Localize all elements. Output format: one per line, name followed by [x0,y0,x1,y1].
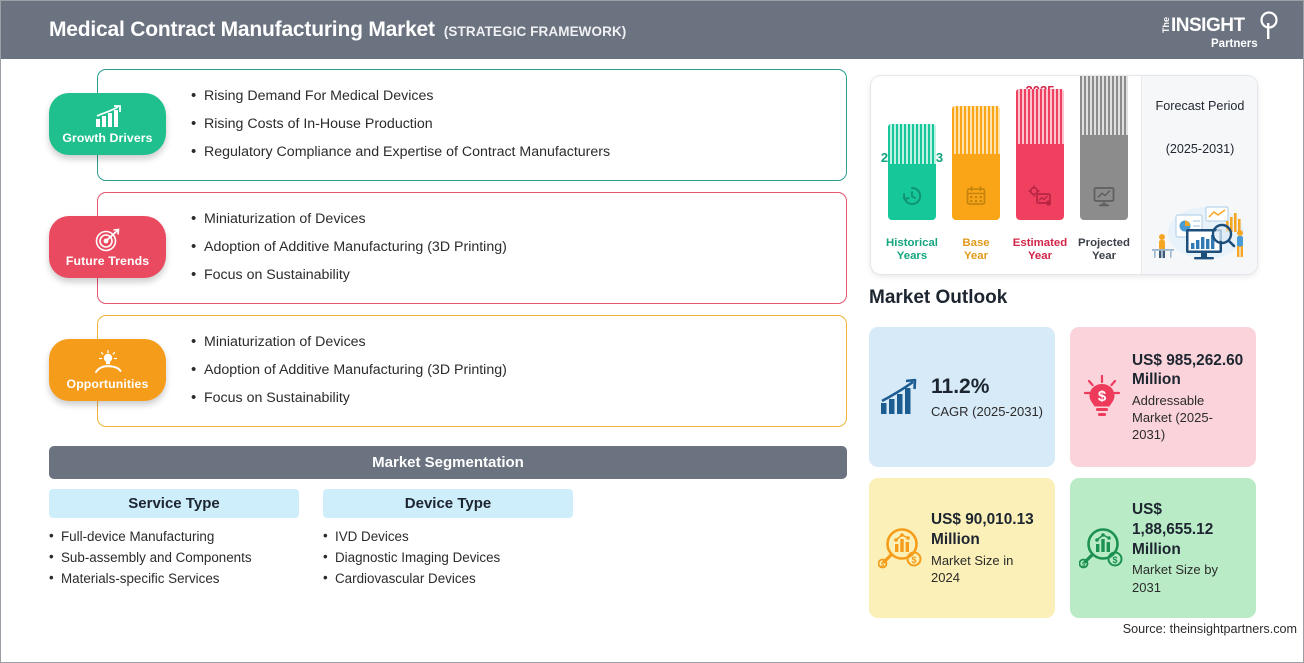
outlook-card-market-size-2024[interactable]: $ $ US$ 90,010.13 Million Market Size in… [869,478,1055,618]
timeline-bar-caption: Base Year [962,237,989,264]
business-analytics-illustration [1146,193,1254,268]
badge-opportunities[interactable]: Opportunities [49,339,166,401]
list-item: Adoption of Additive Manufacturing (3D P… [191,239,835,257]
outlook-card-value: US$ 90,010.13 Million [931,510,1045,549]
left-column: Growth Drivers Rising Demand For Medical… [1,59,861,663]
page-title: Medical Contract Manufacturing Market [49,18,435,42]
list-item: Full-device Manufacturing [49,529,299,544]
page-subtitle: (STRATEGIC FRAMEWORK) [444,24,627,39]
outlook-card-text: 11.2% CAGR (2025-2031) [925,374,1043,420]
badge-growth-drivers[interactable]: Growth Drivers [49,93,166,155]
bar-striped-top [1080,76,1128,135]
outlook-card-description: Market Size in 2024 [931,552,1045,586]
list-item: Materials-specific Services [49,571,299,586]
badge-label: Growth Drivers [62,131,152,145]
list-item: Sub-assembly and Components [49,550,299,565]
outlook-card-description: CAGR (2025-2031) [931,403,1043,420]
timeline-bar-historical: 2022-2023 [885,104,939,264]
bar-chart-growth-icon [93,104,123,130]
market-segmentation-label: Market Segmentation [372,454,524,471]
list-item: Focus on Sustainability [191,390,835,408]
section-opportunities: Opportunities Miniaturization of Devices… [97,315,847,427]
right-column: 2022-2023 [861,59,1304,663]
list-item: Regulatory Compliance and Expertise of C… [191,144,835,162]
insight-partners-logo[interactable]: The INSIGHT Partners [1157,9,1285,51]
list-item: Miniaturization of Devices [191,334,835,352]
bar-chart-arrow-icon [877,377,925,417]
bar-solid-body [952,154,1000,220]
timeline-panel: 2022-2023 [871,76,1257,274]
clock-history-icon [901,185,923,212]
calendar-icon [965,185,987,212]
timeline-bar-caption: Estimated Year [1013,237,1067,264]
presentation-chart-icon [1092,185,1116,212]
timeline-bar-caption: Projected Year [1078,237,1130,264]
timeline-bar-caption: Historical Years [886,237,938,264]
badge-label: Opportunities [67,377,149,391]
outlook-card-description: Addressable Market (2025-2031) [1132,392,1246,443]
market-segmentation-header: Market Segmentation [49,446,847,479]
outlook-card-text: US$ 90,010.13 Million Market Size in 202… [925,510,1045,586]
list-item: Miniaturization of Devices [191,211,835,229]
outlook-card-value: 11.2% [931,374,1043,401]
segmentation-column-title: Service Type [128,495,219,512]
segmentation-column-header: Service Type [49,489,299,518]
svg-text:The: The [1161,17,1171,33]
timeline-bars: 2022-2023 [871,76,1141,274]
bar-striped-top [1016,89,1064,144]
bar-striped-top [888,124,936,164]
bullet-list: Rising Demand For Medical Devices Rising… [191,69,835,181]
segmentation-list: Full-device Manufacturing Sub-assembly a… [49,529,299,586]
svg-text:Partners: Partners [1211,38,1258,50]
lightbulb-dollar-icon: $ [1078,374,1126,420]
bar-shape [952,106,1000,220]
outlook-card-addressable-market[interactable]: $ US$ 985,262.60 Million Addressable Mar… [1070,327,1256,467]
gear-chart-icon [1028,185,1052,212]
magnifier-chart-dollar-icon: $ $ [877,526,925,570]
section-future-trends: Future Trends Miniaturization of Devices… [97,192,847,304]
outlook-card-cagr[interactable]: 11.2% CAGR (2025-2031) [869,327,1055,467]
magnifier-chart-dollar-icon: $ $ [1078,526,1126,570]
section-growth-drivers: Growth Drivers Rising Demand For Medical… [97,69,847,181]
segmentation-list: IVD Devices Diagnostic Imaging Devices C… [323,529,573,586]
infographic-page: Medical Contract Manufacturing Market (S… [0,0,1304,663]
segmentation-column-title: Device Type [405,495,491,512]
outlook-card-value: US$ 985,262.60 Million [1132,351,1246,390]
svg-text:$: $ [1098,388,1107,405]
bullet-list: Miniaturization of Devices Adoption of A… [191,315,835,427]
outlook-card-description: Market Size by 2031 [1132,561,1246,595]
list-item: Cardiovascular Devices [323,571,573,586]
forecast-period-panel: Forecast Period (2025-2031) [1141,76,1257,274]
timeline-bar-projected: 2031 [1077,76,1131,264]
bar-solid-body [1016,144,1064,220]
outlook-card-text: US$ 1,88,655.12 Million Market Size by 2… [1126,500,1246,595]
svg-text:$: $ [1112,555,1117,565]
timeline-bar-base: 2024 [949,89,1003,264]
bar-shape [1080,76,1128,220]
list-item: Rising Costs of In-House Production [191,116,835,134]
segmentation-column-service-type: Service Type Full-device Manufacturing S… [49,489,299,586]
timeline-bar-estimated: 2025 [1013,76,1067,264]
bar-shape [1016,89,1064,220]
badge-future-trends[interactable]: Future Trends [49,216,166,278]
bar-striped-top [952,106,1000,154]
forecast-period-range: (2025-2031) [1142,142,1257,156]
svg-text:INSIGHT: INSIGHT [1171,15,1245,36]
bar-solid-body [1080,135,1128,220]
source-note: Source: theinsightpartners.com [1123,622,1297,636]
list-item: Adoption of Additive Manufacturing (3D P… [191,362,835,380]
hand-lightbulb-icon [93,350,123,376]
bullet-list: Miniaturization of Devices Adoption of A… [191,192,835,304]
header-title-group: Medical Contract Manufacturing Market (S… [1,18,626,42]
segmentation-column-header: Device Type [323,489,573,518]
target-dartboard-icon [94,227,122,253]
outlook-card-text: US$ 985,262.60 Million Addressable Marke… [1126,351,1246,444]
segmentation-column-device-type: Device Type IVD Devices Diagnostic Imagi… [323,489,573,586]
list-item: Focus on Sustainability [191,267,835,285]
list-item: IVD Devices [323,529,573,544]
list-item: Diagnostic Imaging Devices [323,550,573,565]
outlook-card-market-size-2031[interactable]: $ $ US$ 1,88,655.12 Million Market Size … [1070,478,1256,618]
list-item: Rising Demand For Medical Devices [191,88,835,106]
badge-label: Future Trends [66,254,149,268]
outlook-card-value: US$ 1,88,655.12 Million [1132,500,1246,559]
market-outlook-title: Market Outlook [869,287,1007,309]
forecast-period-title: Forecast Period [1142,98,1257,114]
bar-shape [888,124,936,220]
svg-text:$: $ [911,555,916,565]
page-header: Medical Contract Manufacturing Market (S… [1,1,1304,59]
bar-solid-body [888,164,936,220]
